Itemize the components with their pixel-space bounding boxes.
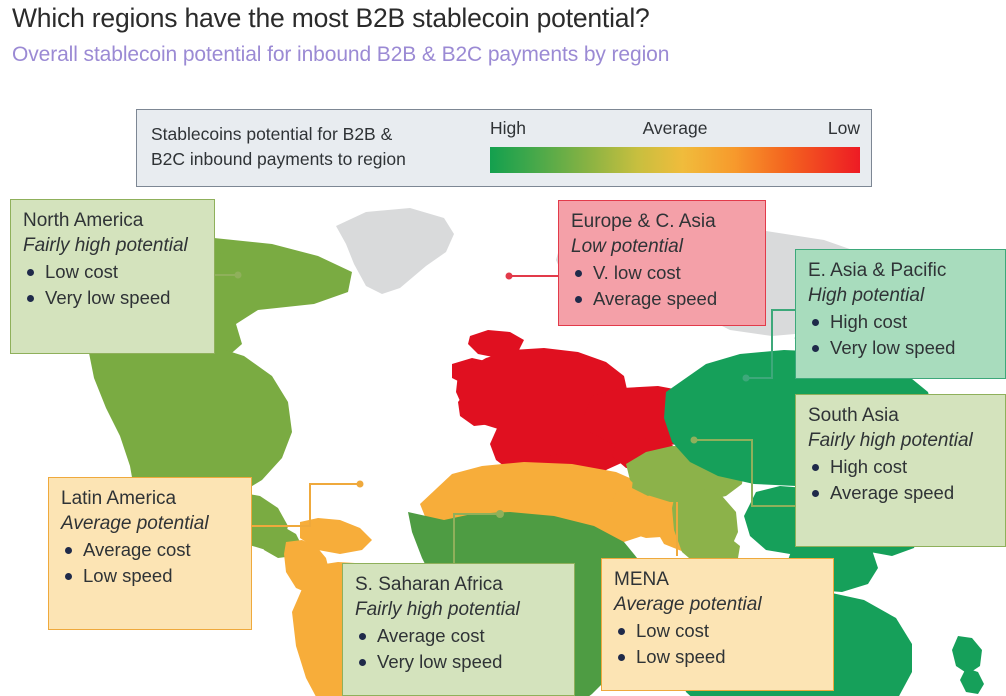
legend-title-line1: Stablecoins potential for B2B & <box>151 124 392 144</box>
callout-bullet: High cost <box>808 309 995 335</box>
callout-north-america[interactable]: North America Fairly high potential Low … <box>10 199 215 354</box>
callout-bullet: Low speed <box>614 644 823 670</box>
callout-bullet: Very low speed <box>23 285 204 311</box>
connector-latin-america <box>250 478 364 534</box>
callout-region-name: MENA <box>614 567 823 592</box>
callout-bullet-list: Low cost Low speed <box>614 618 823 670</box>
callout-region-name: E. Asia & Pacific <box>808 258 995 283</box>
callout-bullet: Low cost <box>23 259 204 285</box>
page-title: Which regions have the most B2B stableco… <box>12 3 650 34</box>
callout-mena[interactable]: MENA Average potential Low cost Low spee… <box>601 558 834 691</box>
callout-bullet: Average speed <box>808 480 995 506</box>
callout-latin-america[interactable]: Latin America Average potential Average … <box>48 477 252 630</box>
connector-sub-saharan-africa <box>440 500 510 570</box>
callout-bullet-list: High cost Average speed <box>808 454 995 506</box>
callout-potential: Low potential <box>571 234 755 259</box>
callout-bullet: Average speed <box>571 286 755 312</box>
callout-potential: Average potential <box>614 592 823 617</box>
callout-bullet: Average cost <box>61 537 241 563</box>
callout-south-asia[interactable]: South Asia Fairly high potential High co… <box>795 394 1006 547</box>
callout-bullet-list: Average cost Very low speed <box>355 623 564 675</box>
connector-south-asia <box>690 432 800 512</box>
legend-gradient-bar <box>490 147 860 173</box>
connector-mena <box>645 498 705 560</box>
callout-bullet: Average cost <box>355 623 564 649</box>
callout-europe-central-asia[interactable]: Europe & C. Asia Low potential V. low co… <box>558 200 766 326</box>
legend-tick-labels: High Average Low <box>490 118 860 145</box>
callout-potential: Fairly high potential <box>355 597 564 622</box>
callout-region-name: North America <box>23 208 204 233</box>
callout-potential: Fairly high potential <box>23 233 204 258</box>
callout-bullet-list: Low cost Very low speed <box>23 259 204 311</box>
callout-bullet: Low cost <box>614 618 823 644</box>
callout-sub-saharan-africa[interactable]: S. Saharan Africa Fairly high potential … <box>342 563 575 696</box>
callout-bullet: Low speed <box>61 563 241 589</box>
callout-region-name: Latin America <box>61 486 241 511</box>
callout-bullet-list: Average cost Low speed <box>61 537 241 589</box>
infographic-canvas: Which regions have the most B2B stableco… <box>0 0 1006 696</box>
callout-potential: Fairly high potential <box>808 428 995 453</box>
callout-region-name: S. Saharan Africa <box>355 572 564 597</box>
legend-title: Stablecoins potential for B2B & B2C inbo… <box>151 122 501 172</box>
callout-potential: High potential <box>808 283 995 308</box>
callout-bullet: Very low speed <box>355 649 564 675</box>
callout-region-name: Europe & C. Asia <box>571 209 755 234</box>
callout-east-asia-pacific[interactable]: E. Asia & Pacific High potential High co… <box>795 249 1006 379</box>
legend-panel: Stablecoins potential for B2B & B2C inbo… <box>136 109 872 187</box>
callout-potential: Average potential <box>61 511 241 536</box>
callout-bullet-list: V. low cost Average speed <box>571 260 755 312</box>
legend-title-line2: B2C inbound payments to region <box>151 149 406 169</box>
callout-region-name: South Asia <box>808 403 995 428</box>
legend-tick-average: Average <box>643 118 708 139</box>
page-subtitle: Overall stablecoin potential for inbound… <box>12 43 669 67</box>
legend-scale: High Average Low <box>490 118 860 180</box>
callout-bullet: High cost <box>808 454 995 480</box>
callout-bullet: Very low speed <box>808 335 995 361</box>
callout-bullet: V. low cost <box>571 260 755 286</box>
legend-tick-low: Low <box>828 118 860 139</box>
legend-tick-high: High <box>490 118 526 139</box>
callout-bullet-list: High cost Very low speed <box>808 309 995 361</box>
